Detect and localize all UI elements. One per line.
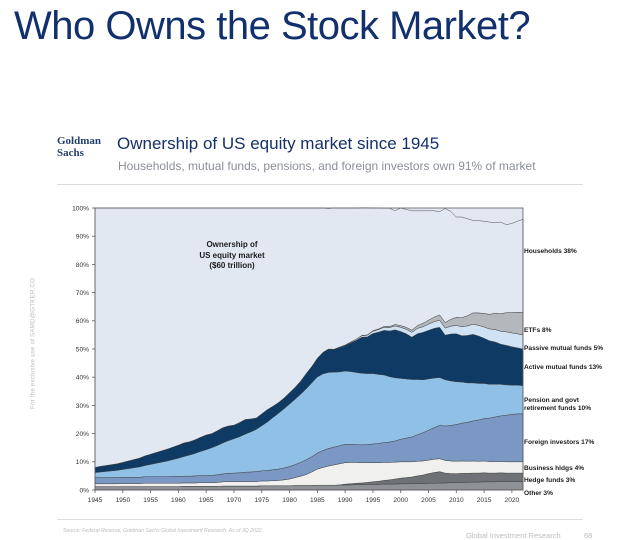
x-axis-tick-labels: 1945195019551960196519701975198019851990… <box>88 497 520 504</box>
series-label-text: Other 3% <box>524 490 553 498</box>
series-label-households: Households 38% <box>524 248 577 256</box>
y-tick-label: 30% <box>76 403 89 410</box>
y-tick-label: 80% <box>76 262 89 269</box>
y-tick-label: 0% <box>79 487 89 494</box>
series-label-text-line2: retirement funds 10% <box>524 405 591 413</box>
annotation-line-2: US equity market <box>168 251 296 262</box>
annotation-line-1: Ownership of <box>168 240 296 251</box>
series-label-text: Foreign investors 17% <box>524 439 594 447</box>
y-tick-label: 50% <box>76 346 89 353</box>
slide-canvas: Goldman Sachs Ownership of US equity mar… <box>0 62 640 487</box>
watermark-side-note: For the exclusive use of SAMD@GTKER.CO <box>26 258 40 428</box>
series-label-text: Passive mutual funds 5% <box>524 345 603 353</box>
series-label-text: Households 38% <box>524 248 577 256</box>
x-tick-label: 1945 <box>88 497 103 504</box>
x-tick-label: 1960 <box>171 497 186 504</box>
y-tick-label: 10% <box>76 459 89 466</box>
divider-top <box>57 184 583 185</box>
series-label-text: Active mutual funds 13% <box>524 364 602 372</box>
y-tick-label: 90% <box>76 234 89 241</box>
y-tick-label: 100% <box>72 205 89 212</box>
x-tick-label: 1965 <box>199 497 214 504</box>
series-label-text: Hedge funds 3% <box>524 477 575 485</box>
series-label-foreign-investors: Foreign investors 17% <box>524 439 594 447</box>
series-label-active-mutual-funds: Active mutual funds 13% <box>524 364 602 372</box>
slide-title: Ownership of US equity market since 1945 <box>117 134 439 154</box>
goldman-sachs-logo: Goldman Sachs <box>57 136 109 159</box>
chart-areas <box>95 208 523 490</box>
y-tick-label: 20% <box>76 431 89 438</box>
x-tick-label: 1950 <box>115 497 130 504</box>
source-note: Source: Federal Reserve, Goldman Sachs G… <box>63 528 263 534</box>
y-tick-label: 60% <box>76 318 89 325</box>
series-label-text: Business hldgs 4% <box>524 465 584 473</box>
x-tick-label: 1970 <box>227 497 242 504</box>
x-tick-label: 1990 <box>338 497 353 504</box>
logo-line-2: Sachs <box>57 148 109 160</box>
x-tick-label: 2020 <box>505 497 520 504</box>
series-label-passive-mutual-funds: Passive mutual funds 5% <box>524 345 603 353</box>
x-tick-label: 1980 <box>282 497 297 504</box>
x-tick-label: 1985 <box>310 497 325 504</box>
x-tick-label: 2010 <box>449 497 464 504</box>
page-title: Who Owns the Stock Market? <box>14 4 530 48</box>
divider-bottom <box>57 519 583 520</box>
chart-annotation: Ownership of US equity market ($60 trill… <box>168 240 296 272</box>
footer-label: Global Investment Research <box>466 531 561 540</box>
stacked-area-chart: 0%10%20%30%40%50%60%70%80%90%100% 194519… <box>57 202 583 512</box>
page-number: 68 <box>584 531 592 540</box>
x-tick-label: 1955 <box>143 497 158 504</box>
x-tick-label: 2000 <box>393 497 408 504</box>
series-label-pension-and-govt-retirement-funds: Pension and govtretirement funds 10% <box>524 397 591 414</box>
logo-line-1: Goldman <box>57 136 109 148</box>
series-label-business-hldgs: Business hldgs 4% <box>524 465 584 473</box>
chart-svg: 0%10%20%30%40%50%60%70%80%90%100% 194519… <box>57 202 583 512</box>
annotation-line-3: ($60 trillion) <box>168 261 296 272</box>
y-axis-tick-labels: 0%10%20%30%40%50%60%70%80%90%100% <box>72 205 89 494</box>
series-label-etfs: ETFs 8% <box>524 327 551 335</box>
series-label-other: Other 3% <box>524 490 553 498</box>
series-label-hedge-funds: Hedge funds 3% <box>524 477 575 485</box>
series-label-text: Pension and govt <box>524 397 591 405</box>
slide-subtitle: Households, mutual funds, pensions, and … <box>118 159 536 173</box>
x-tick-label: 2005 <box>421 497 436 504</box>
y-tick-label: 40% <box>76 375 89 382</box>
x-tick-label: 1975 <box>254 497 269 504</box>
y-tick-label: 70% <box>76 290 89 297</box>
x-tick-label: 1995 <box>366 497 381 504</box>
x-tick-label: 2015 <box>477 497 492 504</box>
series-label-text: ETFs 8% <box>524 327 551 335</box>
